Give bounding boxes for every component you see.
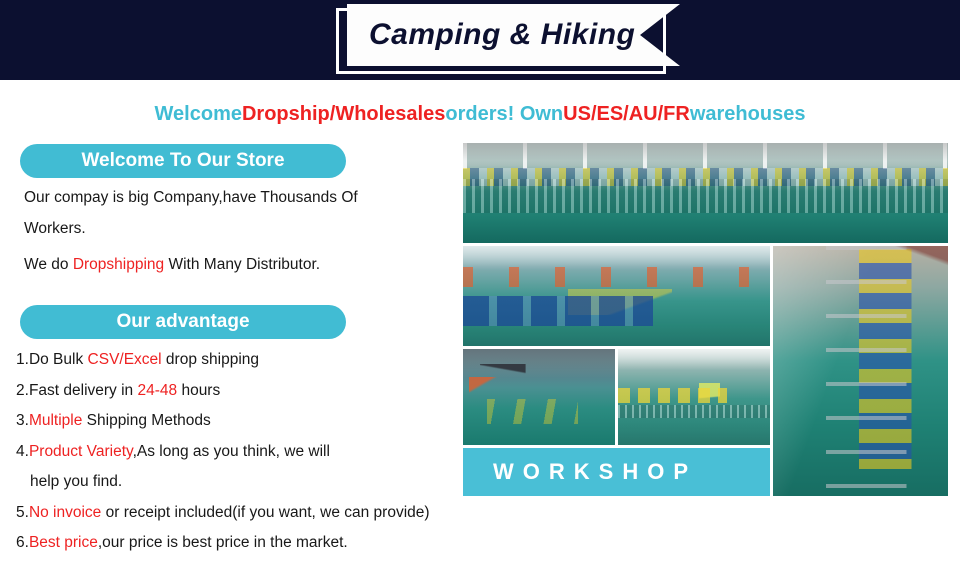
advantage-num-2: 2. <box>16 382 29 399</box>
store-paragraph-line-1: Our compay is big Company,have Thousands… <box>24 190 358 206</box>
advantage-highlight-1: CSV/Excel <box>88 351 162 368</box>
advantage-post-6: ,our price is best price in the market. <box>98 534 348 551</box>
welcome-store-pill: Welcome To Our Store <box>20 144 346 178</box>
advantage-highlight-3: Multiple <box>29 412 82 429</box>
welcome-segment-3: orders! Own <box>445 103 563 126</box>
photo-assembly-line <box>463 246 770 346</box>
advantage-highlight-6: Best price <box>29 534 98 551</box>
our-advantage-pill-label: Our advantage <box>116 311 249 333</box>
workshop-label: WORKSHOP <box>463 459 697 485</box>
photo-conveyor-sorting <box>618 349 770 445</box>
store-paragraph-line-2: Workers. <box>24 221 86 237</box>
advantage-post-2: hours <box>177 382 220 399</box>
photo-warehouse-racking <box>773 246 948 496</box>
advantage-post-3: Shipping Methods <box>82 412 210 429</box>
page-header: Camping & Hiking <box>0 0 960 80</box>
left-content-column: Welcome To Our Store Our compay is big C… <box>0 140 460 570</box>
page-title: Camping & Hiking <box>347 18 635 52</box>
advantage-post-4: ,As long as you think, we will <box>133 443 330 460</box>
welcome-store-pill-label: Welcome To Our Store <box>81 150 284 172</box>
photo-factory-floor-wide <box>463 143 948 243</box>
workshop-photo-collage: WORKSHOP <box>463 143 948 496</box>
list-item: 5.No invoice or receipt included(if you … <box>16 505 616 521</box>
store-line3-highlight: Dropshipping <box>73 256 164 273</box>
welcome-segment-5: warehouses <box>690 103 806 126</box>
workshop-caption-band: WORKSHOP <box>463 448 770 496</box>
advantage-num-4: 4. <box>16 443 29 460</box>
advantage-num-3: 3. <box>16 412 29 429</box>
welcome-strip: Welcome Dropship/Wholesales orders! Own … <box>0 96 960 132</box>
advantage-highlight-5: No invoice <box>29 504 101 521</box>
advantage-num-1: 1. <box>16 351 29 368</box>
advantage-num-6: 6. <box>16 534 29 551</box>
store-line3-post: With Many Distributor. <box>164 256 320 273</box>
photo-packing-station <box>463 349 615 445</box>
advantage-highlight-4: Product Variety <box>29 443 133 460</box>
advantage-num-5: 5. <box>16 504 29 521</box>
welcome-segment-2: Dropship/Wholesales <box>242 103 445 126</box>
advantage-post-1: drop shipping <box>162 351 259 368</box>
advantage-pre-2: Fast delivery in <box>29 382 138 399</box>
advantage-post-5: or receipt included(if you want, we can … <box>101 504 429 521</box>
welcome-segment-1: Welcome <box>155 103 242 126</box>
store-paragraph-line-3: We do Dropshipping With Many Distributor… <box>24 257 320 273</box>
our-advantage-pill: Our advantage <box>20 305 346 339</box>
store-line3-pre: We do <box>24 256 73 273</box>
banner-flag: Camping & Hiking <box>347 4 680 66</box>
advantage-highlight-2: 24-48 <box>137 382 177 399</box>
advantage-pre-1: Do Bulk <box>29 351 88 368</box>
welcome-segment-4: US/ES/AU/FR <box>563 103 690 126</box>
list-item: 6.Best price,our price is best price in … <box>16 535 616 551</box>
